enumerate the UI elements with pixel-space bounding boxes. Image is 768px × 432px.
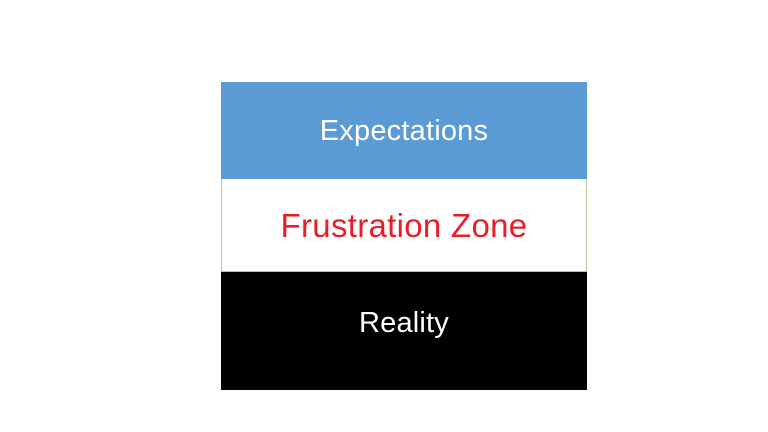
band-frustration-zone-label: Frustration Zone bbox=[281, 209, 528, 242]
band-reality-label: Reality bbox=[359, 309, 449, 338]
band-reality[interactable]: Reality bbox=[221, 272, 587, 390]
slide-canvas: Expectations Frustration Zone bbox=[0, 0, 768, 432]
band-expectations-label: Expectations bbox=[320, 117, 488, 146]
expectations-reality-diagram: Expectations Frustration Zone bbox=[221, 82, 587, 390]
band-expectations[interactable]: Expectations bbox=[221, 82, 587, 179]
band-frustration-zone[interactable]: Frustration Zone bbox=[221, 179, 587, 272]
